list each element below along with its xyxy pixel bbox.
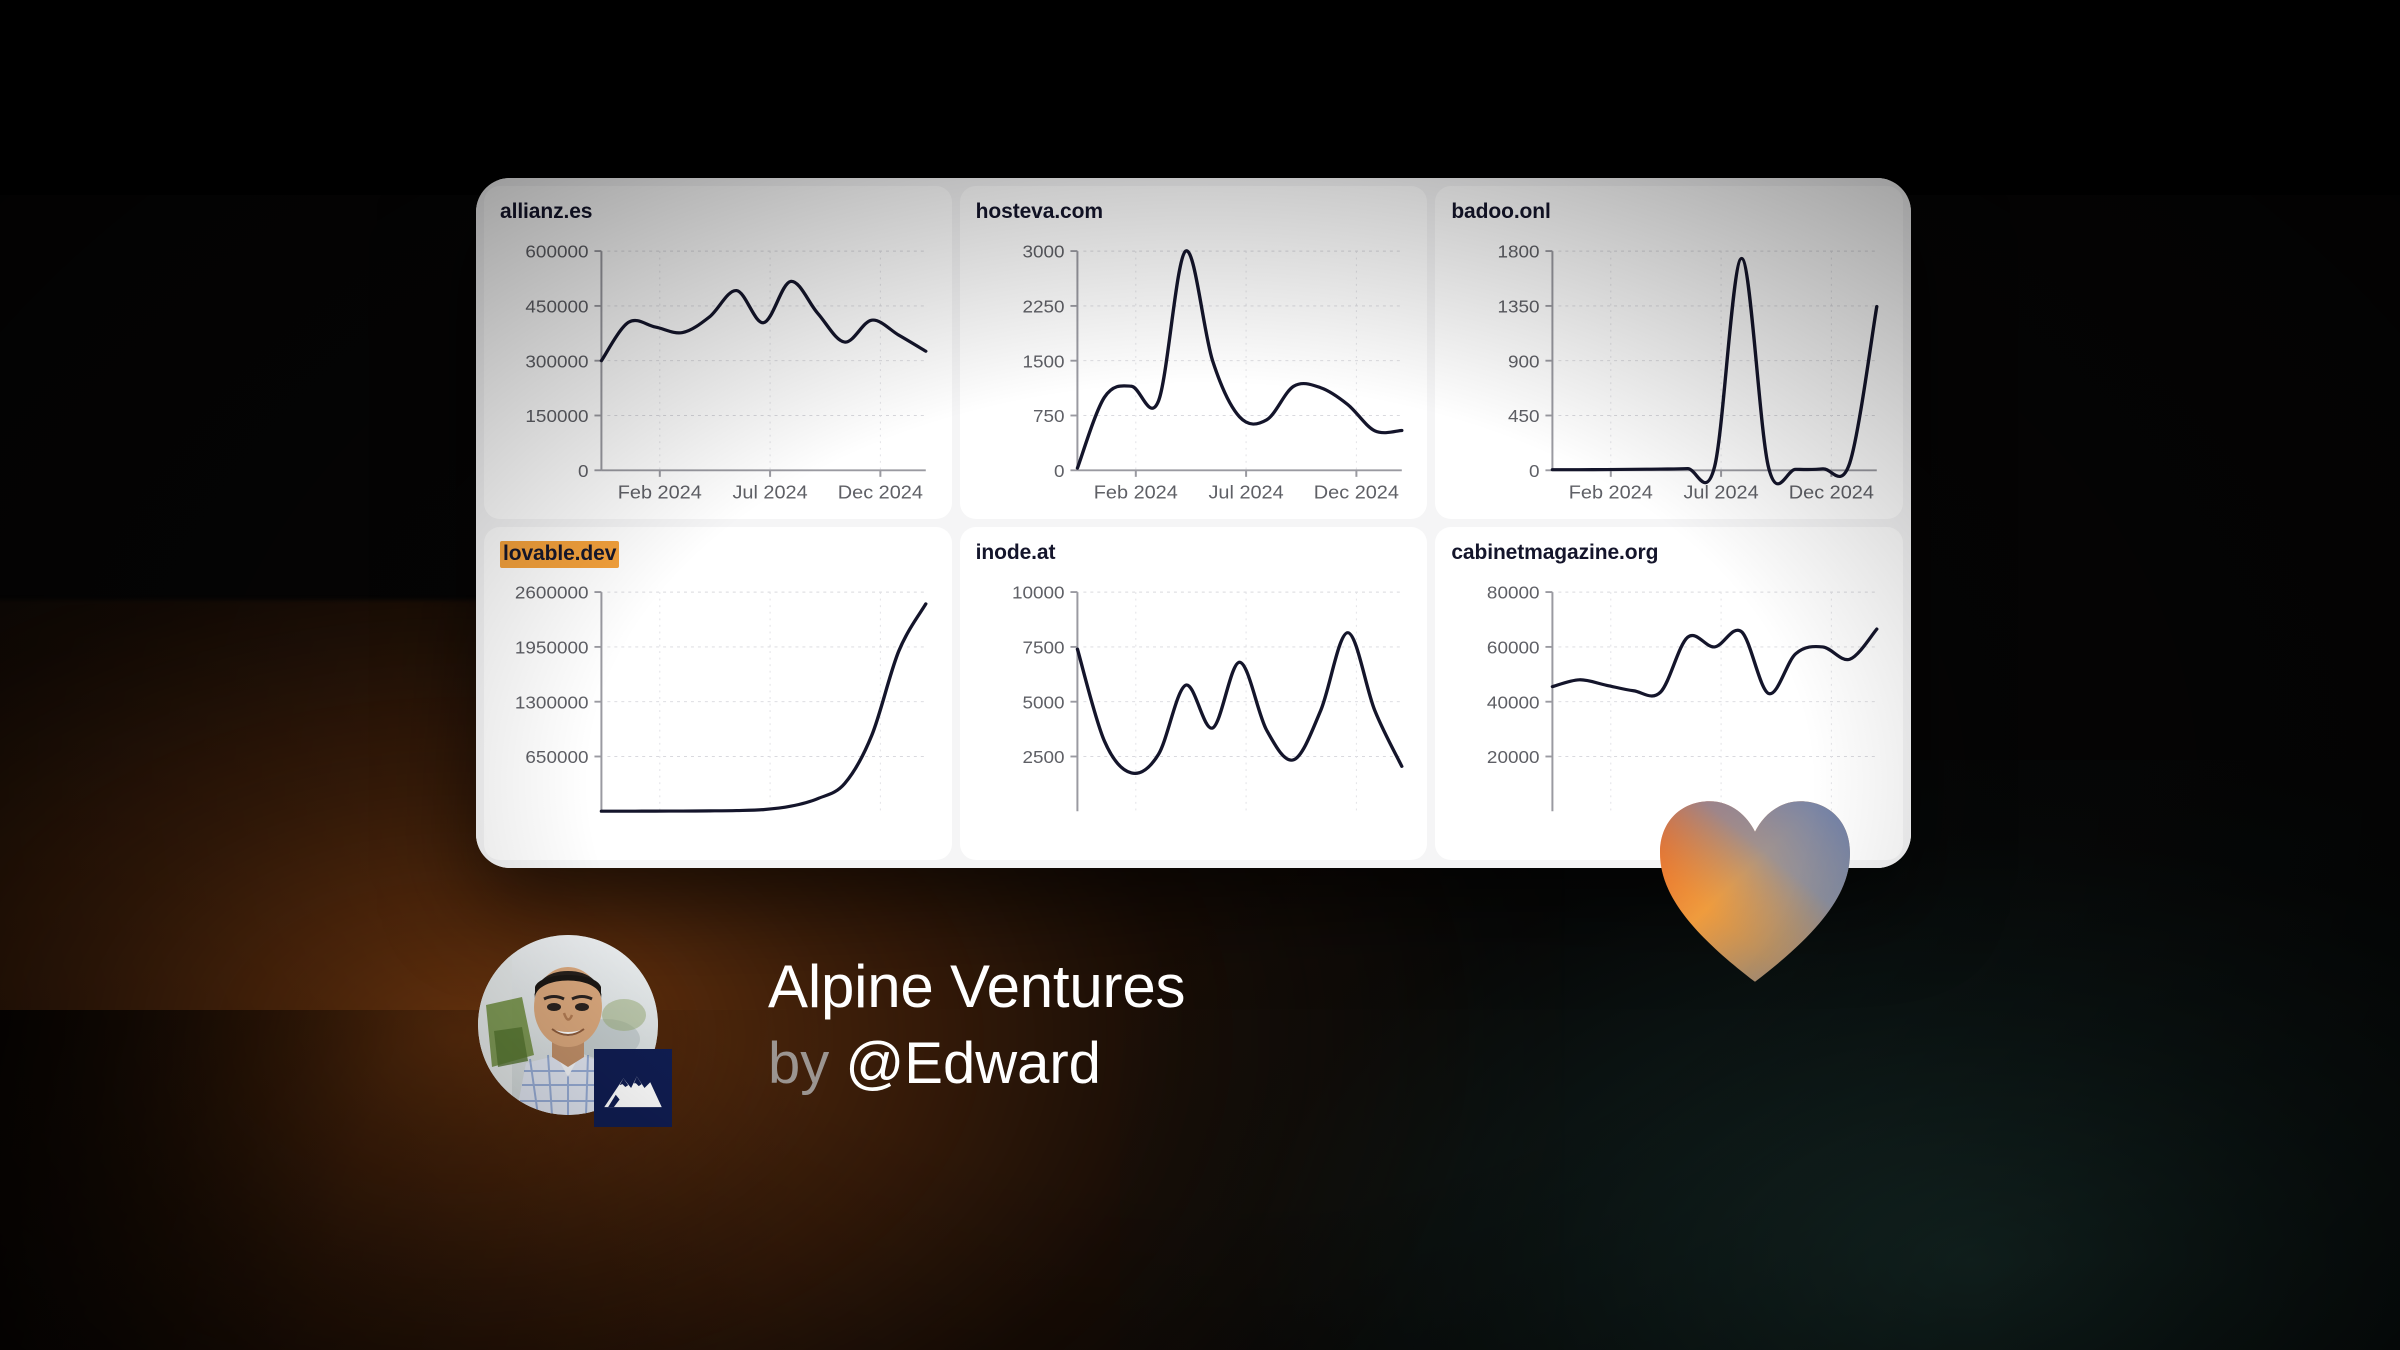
series-line (1553, 629, 1877, 696)
svg-text:0: 0 (578, 460, 589, 480)
chart-card-title: inode.at (976, 541, 1056, 566)
svg-text:Dec 2024: Dec 2024 (838, 483, 923, 503)
svg-text:Jul 2024: Jul 2024 (1684, 483, 1759, 503)
background-top-band (0, 0, 2400, 195)
chart-card[interactable]: inode.at25005000750010000 (960, 527, 1428, 860)
chart-plot: 045090013501800Feb 2024Jul 2024Dec 2024 (1435, 238, 1903, 519)
svg-text:Feb 2024: Feb 2024 (618, 483, 702, 503)
brand-title: Alpine Ventures (768, 957, 1185, 1017)
chart-card-title: hosteva.com (976, 200, 1103, 225)
series-line (1077, 251, 1401, 468)
svg-text:Dec 2024: Dec 2024 (1789, 483, 1874, 503)
svg-text:40000: 40000 (1487, 692, 1540, 712)
svg-text:600000: 600000 (525, 241, 588, 261)
svg-text:450: 450 (1508, 406, 1540, 426)
footer: Alpine Ventures by @Edward (478, 935, 1185, 1115)
svg-text:7500: 7500 (1022, 637, 1064, 657)
charts-panel: allianz.es0150000300000450000600000Feb 2… (476, 178, 1911, 868)
series-line (1077, 633, 1401, 774)
svg-text:900: 900 (1508, 351, 1540, 371)
charts-grid: allianz.es0150000300000450000600000Feb 2… (476, 178, 1911, 868)
series-line (601, 604, 925, 811)
svg-text:80000: 80000 (1487, 582, 1540, 602)
svg-text:Jul 2024: Jul 2024 (1208, 483, 1283, 503)
chart-card-title: cabinetmagazine.org (1451, 541, 1658, 566)
chart-plot: 0150000300000450000600000Feb 2024Jul 202… (484, 238, 952, 519)
svg-text:Feb 2024: Feb 2024 (1569, 483, 1653, 503)
svg-text:1350: 1350 (1498, 296, 1540, 316)
chart-card[interactable]: badoo.onl045090013501800Feb 2024Jul 2024… (1435, 186, 1903, 519)
svg-text:20000: 20000 (1487, 747, 1540, 767)
chart-card-title: lovable.dev (500, 541, 619, 568)
chart-card[interactable]: allianz.es0150000300000450000600000Feb 2… (484, 186, 952, 519)
svg-text:2600000: 2600000 (515, 582, 589, 602)
heart-icon[interactable] (1660, 800, 1850, 985)
svg-text:5000: 5000 (1022, 692, 1064, 712)
svg-text:10000: 10000 (1012, 582, 1065, 602)
svg-text:300000: 300000 (525, 351, 588, 371)
chart-plot: 25005000750010000 (960, 579, 1428, 860)
svg-text:3000: 3000 (1022, 241, 1064, 261)
svg-text:0: 0 (1054, 460, 1065, 480)
svg-text:1500: 1500 (1022, 351, 1064, 371)
svg-text:450000: 450000 (525, 296, 588, 316)
svg-text:150000: 150000 (525, 406, 588, 426)
byline: by @Edward (768, 1035, 1185, 1093)
footer-titles: Alpine Ventures by @Edward (768, 957, 1185, 1093)
svg-text:2500: 2500 (1022, 747, 1064, 767)
mountain-logo-badge (594, 1049, 672, 1127)
series-line (1553, 258, 1877, 483)
chart-card[interactable]: lovable.dev650000130000019500002600000 (484, 527, 952, 860)
svg-text:Dec 2024: Dec 2024 (1313, 483, 1398, 503)
byline-by-label: by (768, 1031, 829, 1096)
svg-text:Feb 2024: Feb 2024 (1093, 483, 1177, 503)
svg-text:750: 750 (1033, 406, 1065, 426)
chart-card[interactable]: hosteva.com0750150022503000Feb 2024Jul 2… (960, 186, 1428, 519)
byline-handle: @Edward (845, 1031, 1101, 1096)
svg-text:Jul 2024: Jul 2024 (732, 483, 807, 503)
svg-text:1950000: 1950000 (515, 637, 589, 657)
chart-plot: 0750150022503000Feb 2024Jul 2024Dec 2024 (960, 238, 1428, 519)
chart-plot: 650000130000019500002600000 (484, 579, 952, 860)
svg-text:1300000: 1300000 (515, 692, 589, 712)
svg-text:650000: 650000 (525, 747, 588, 767)
svg-text:60000: 60000 (1487, 637, 1540, 657)
series-line (601, 281, 925, 360)
svg-text:1800: 1800 (1498, 241, 1540, 261)
svg-text:2250: 2250 (1022, 296, 1064, 316)
svg-text:0: 0 (1529, 460, 1540, 480)
chart-card-title: allianz.es (500, 200, 592, 225)
chart-card-title: badoo.onl (1451, 200, 1550, 225)
avatar-wrapper (478, 935, 658, 1115)
